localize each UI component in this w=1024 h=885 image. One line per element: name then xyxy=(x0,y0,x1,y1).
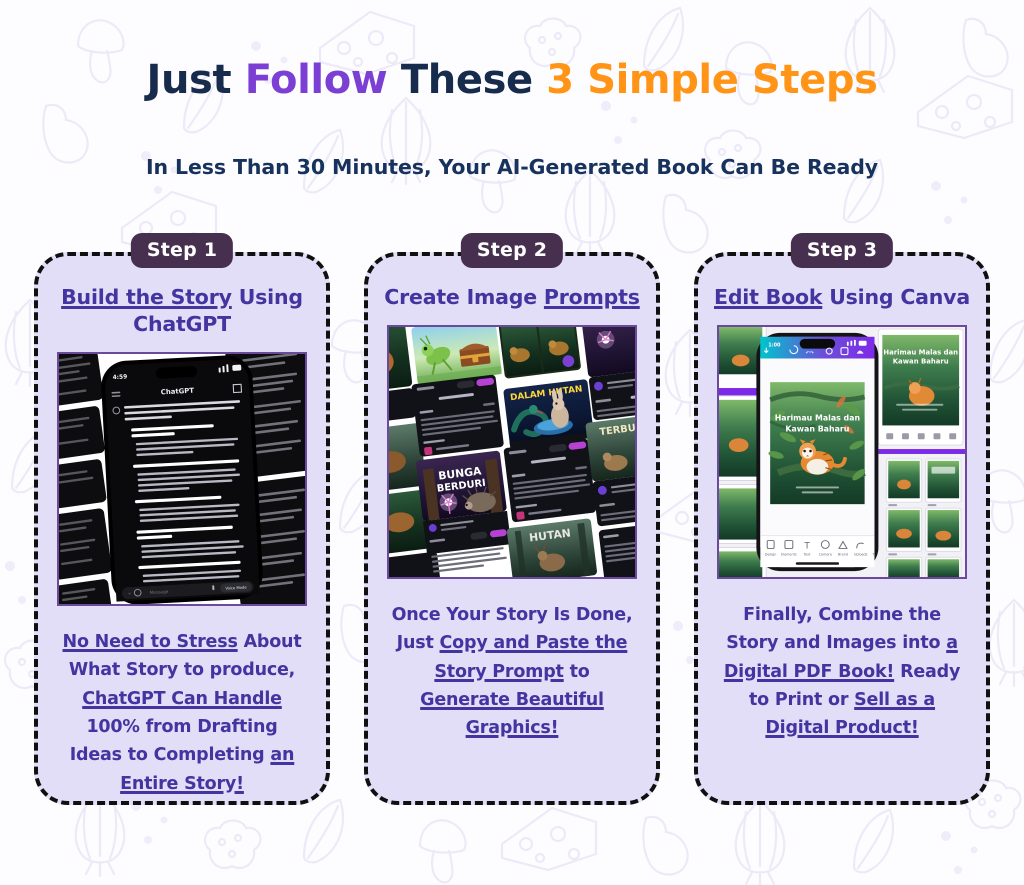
caption-run: Finally, Combine the Story and Images in… xyxy=(726,605,946,653)
title-part-4: 3 Simple Steps xyxy=(546,57,877,103)
svg-text:4:59: 4:59 xyxy=(113,375,128,382)
image-prompts-figure: BUNGA BERDURI xyxy=(387,325,637,579)
step-card-3: Step 3 Edit Book Using Canva xyxy=(694,252,990,805)
chatgpt-screenshot-figure: 4:59 ChatGPT xyxy=(57,352,307,606)
caption-run: No Need to Stress xyxy=(63,632,238,652)
step-badge-3: Step 3 xyxy=(791,233,893,268)
caption-run: ChatGPT Can Handle xyxy=(82,689,282,709)
title-part-3: These xyxy=(401,57,546,103)
heading-run: Build the Story xyxy=(61,285,232,309)
step-heading-3: Edit Book Using Canva xyxy=(714,284,970,311)
heading-run: Create Image xyxy=(384,285,544,309)
step-badge-1: Step 1 xyxy=(131,233,233,268)
svg-text:1:00: 1:00 xyxy=(768,343,781,349)
svg-text:Text: Text xyxy=(803,552,811,556)
page-subtitle: In Less Than 30 Minutes, Your AI-Generat… xyxy=(0,155,1024,179)
svg-text:Design: Design xyxy=(765,552,777,556)
ai-image-prompt-cards-collage: BUNGA BERDURI xyxy=(389,327,635,577)
canva-editor-figure: Harimau Malas dan Kawan Baharu xyxy=(717,325,967,579)
svg-text:Uploads: Uploads xyxy=(854,552,868,556)
svg-text:Brand: Brand xyxy=(838,552,848,556)
title-part-2: Follow xyxy=(245,57,401,103)
chatgpt-mobile-screenshot-collage: 4:59 ChatGPT xyxy=(59,354,305,604)
step-heading-1: Build the Story Using ChatGPT xyxy=(52,284,312,338)
heading-run: Prompts xyxy=(544,285,640,309)
page-title: Just Follow These 3 Simple Steps xyxy=(0,58,1024,102)
steps-row: Step 1 Build the Story Using ChatGPT xyxy=(34,252,990,805)
book-title-line-2: Kawan Baharu xyxy=(785,424,849,433)
caption-run: 100% from Drafting Ideas to Completing xyxy=(70,717,278,765)
canva-mobile-book-editor-screenshot: Harimau Malas dan Kawan Baharu xyxy=(719,327,965,577)
title-part-1: Just xyxy=(146,57,244,103)
svg-text:Elements: Elements xyxy=(781,552,797,556)
step-badge-2: Step 2 xyxy=(461,233,563,268)
step-caption-1: No Need to Stress About What Story to pr… xyxy=(52,628,312,798)
svg-text:Harimau Malas dan: Harimau Malas dan xyxy=(883,349,958,357)
book-title-line-1: Harimau Malas dan xyxy=(775,414,860,423)
caption-run: to xyxy=(564,662,590,682)
heading-run: Using Canva xyxy=(822,285,970,309)
svg-text:Kawan Baharu: Kawan Baharu xyxy=(893,357,949,365)
heading-run: Edit Book xyxy=(714,285,822,309)
caption-run: Generate Beautiful Graphics! xyxy=(420,690,604,738)
step-caption-2: Once Your Story Is Done, Just Copy and P… xyxy=(382,601,642,743)
svg-text:T: T xyxy=(803,541,810,551)
svg-text:Camera: Camera xyxy=(819,552,832,556)
svg-text:↶↷: ↶↷ xyxy=(806,351,814,357)
step-card-1: Step 1 Build the Story Using ChatGPT xyxy=(34,252,330,805)
step-heading-2: Create Image Prompts xyxy=(384,284,640,311)
caption-run: Copy and Paste the Story Prompt xyxy=(434,633,627,681)
step-caption-3: Finally, Combine the Story and Images in… xyxy=(712,601,972,743)
svg-text:Message: Message xyxy=(149,589,169,596)
step-card-2: Step 2 Create Image Prompts xyxy=(364,252,660,805)
